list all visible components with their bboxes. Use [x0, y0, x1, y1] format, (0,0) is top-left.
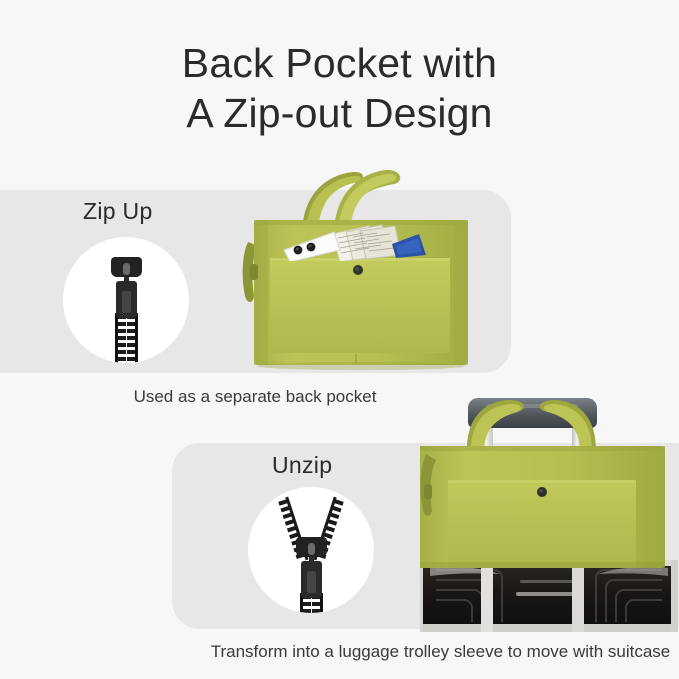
- product-infographic: Back Pocket with A Zip-out Design Zip Up: [0, 0, 679, 679]
- zipper-closed-icon: [63, 237, 189, 363]
- unzip-caption: Transform into a luggage trolley sleeve …: [172, 642, 679, 662]
- tote-bag-front: [236, 158, 486, 373]
- title-line-2: A Zip-out Design: [0, 88, 679, 138]
- zip-up-label: Zip Up: [83, 198, 153, 225]
- unzip-label: Unzip: [272, 452, 332, 479]
- title-line-1: Back Pocket with: [0, 38, 679, 88]
- page-title: Back Pocket with A Zip-out Design: [0, 38, 679, 138]
- tote-bag-on-suitcase: [420, 392, 679, 637]
- zipper-open-icon: [248, 487, 374, 613]
